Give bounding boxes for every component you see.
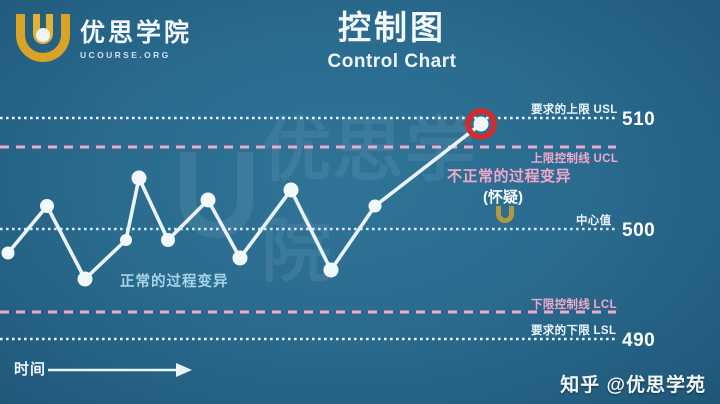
usl-label-cn: 要求的上限 <box>531 104 590 116</box>
highlighted-data-point[interactable] <box>468 111 494 137</box>
center-label: 中心值 <box>576 212 611 228</box>
usl-label-en: USL <box>594 104 618 116</box>
data-point[interactable] <box>284 183 299 198</box>
usl-label: 要求的上限 USL <box>531 101 618 117</box>
time-axis-label: 时间 <box>14 358 46 379</box>
data-point[interactable] <box>132 171 147 186</box>
time-axis-arrow-icon <box>48 363 192 377</box>
ucl-label-cn: 上限控制线 <box>531 153 590 165</box>
highlight-point-marker <box>474 117 489 132</box>
lsl-label: 要求的下限 LSL <box>531 322 616 338</box>
data-point[interactable] <box>233 251 248 266</box>
center-label-cn: 中心值 <box>576 215 611 227</box>
data-point[interactable] <box>161 233 175 247</box>
normal-variation-annotation: 正常的过程变异 <box>120 270 229 291</box>
control-chart-plot <box>0 0 720 404</box>
data-point[interactable] <box>40 199 54 213</box>
lcl-label-cn: 下限控制线 <box>531 299 590 311</box>
usl-value: 510 <box>622 109 655 131</box>
center-value: 500 <box>622 220 655 242</box>
lsl-label-cn: 要求的下限 <box>531 325 590 337</box>
data-point[interactable] <box>78 272 93 287</box>
ucl-label-en: UCL <box>594 153 619 165</box>
lsl-label-en: LSL <box>594 325 617 337</box>
data-point[interactable] <box>201 193 216 208</box>
lsl-value: 490 <box>622 330 655 352</box>
data-point[interactable] <box>120 234 132 246</box>
ucl-label: 上限控制线 UCL <box>531 150 618 166</box>
time-axis: 时间 <box>14 358 46 379</box>
data-point[interactable] <box>369 200 382 213</box>
data-point[interactable] <box>324 263 339 278</box>
data-point[interactable] <box>2 247 15 260</box>
abnormal-variation-annotation: 不正常的过程变异 <box>447 165 571 186</box>
control-chart-infographic: 优思学院 优思学院 UCOURSE.ORG 控制图 Control Chart <box>0 0 720 404</box>
lcl-label-en: LCL <box>594 299 618 311</box>
suspect-annotation: (怀疑) <box>483 186 523 207</box>
lcl-label: 下限控制线 LCL <box>531 296 617 312</box>
footer-watermark: 知乎 @优思学苑 <box>560 370 706 397</box>
